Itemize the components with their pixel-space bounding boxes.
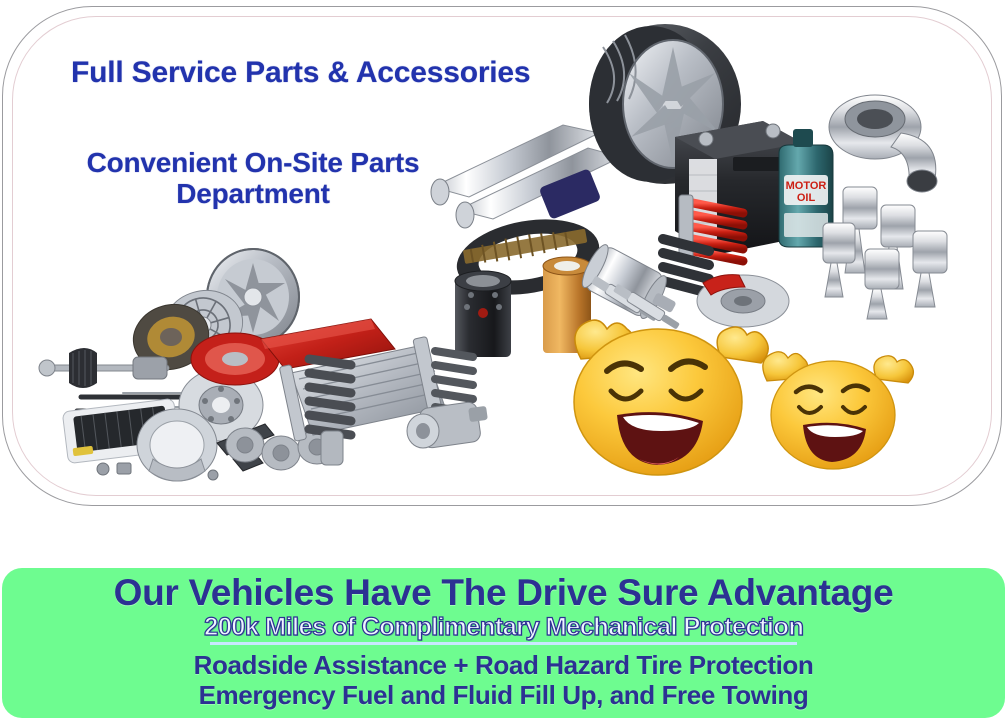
chrome-pistons [823,187,947,319]
svg-text:OIL: OIL [797,192,816,204]
headline-full-service: Full Service Parts & Accessories [71,56,530,90]
headline-onsite-parts: Convenient On-Site Parts Department [63,149,443,208]
svg-text:MOTOR: MOTOR [786,180,827,192]
banner-subheadline-underline: 200k Miles of Complimentary Mechanical P… [210,614,797,646]
advertisement-banner: MOTOR OIL [0,0,1007,725]
black-coilover-spring [663,239,709,293]
banner-subheadline: 200k Miles of Complimentary Mechanical P… [204,614,803,642]
brake-drum-backing-plate [137,409,217,481]
banner-benefit-line-1: Roadside Assistance + Road Hazard Tire P… [2,651,1005,681]
drive-sure-advantage-banner: Our Vehicles Have The Drive Sure Advanta… [2,568,1005,718]
chrome-exhaust-tips [431,125,621,228]
brake-rotor-disc-right [697,275,789,327]
headline-onsite-parts-line1: Convenient On-Site Parts [87,147,420,178]
laughing-emoji-large [574,320,768,475]
banner-benefit-line-2: Emergency Fuel and Fluid Fill Up, and Fr… [2,681,1005,711]
turbocharger [829,95,937,192]
laughing-emoji-small [763,352,914,469]
headline-onsite-parts-line2: Department [63,180,443,208]
hero-card: MOTOR OIL [2,6,1002,506]
banner-headline: Our Vehicles Have The Drive Sure Advanta… [2,574,1005,613]
oil-filter [455,271,511,357]
